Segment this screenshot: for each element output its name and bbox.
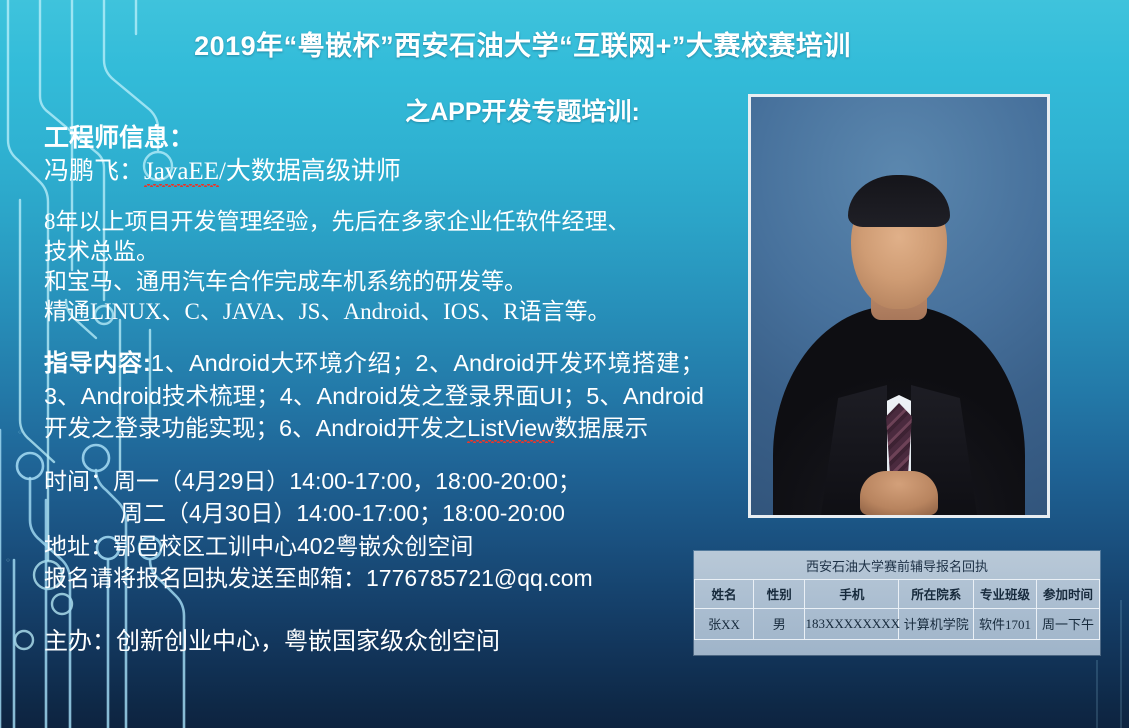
engineer-bio: 8年以上项目开发管理经验，先后在多家企业任软件经理、 技术总监。 和宝马、通用汽… [44, 207, 744, 327]
bio-line: 技术总监。 [44, 237, 744, 267]
table-header-row: 姓名 性别 手机 所在院系 专业班级 参加时间 [695, 580, 1100, 609]
sponsor-line: 主办：创新创业中心，粤嵌国家级众创空间 [44, 621, 744, 656]
bio-line: 8年以上项目开发管理经验，先后在多家企业任软件经理、 [44, 207, 744, 237]
engineer-info-heading: 工程师信息： [44, 124, 744, 155]
schedule-block: 时间：周一（4月29日）14:00-17:00，18:00-20:00； 周二（… [44, 465, 744, 596]
bio-line: 精通LINUX、C、JAVA、JS、Android、IOS、R语言等。 [44, 297, 744, 327]
schedule-time-line-2: 周二（4月30日）14:00-17:00；18:00-20:00 [44, 497, 744, 530]
photo-hair [848, 175, 950, 227]
column-header-department: 所在院系 [899, 580, 974, 609]
course-content-block: 指导内容:1、Android大环境介绍；2、Android开发环境搭建；3、An… [44, 347, 704, 445]
registration-receipt-table: 西安石油大学赛前辅导报名回执 姓名 性别 手机 所在院系 专业班级 参加时间 张… [694, 551, 1100, 655]
schedule-time-line-1: 时间：周一（4月29日）14:00-17:00，18:00-20:00； [44, 465, 744, 498]
cell-name: 张XX [695, 609, 754, 640]
instructor-photo [748, 94, 1050, 518]
engineer-title: /大数据高级讲师 [219, 158, 401, 185]
engineer-name-line: 冯鹏飞：JavaEE/大数据高级讲师 [44, 156, 744, 188]
receipt-table-title: 西安石油大学赛前辅导报名回执 [694, 551, 1100, 579]
javaee-spellcheck-term: JavaEE [144, 158, 219, 185]
column-header-phone: 手机 [805, 580, 899, 609]
column-header-class: 专业班级 [974, 580, 1037, 609]
signup-instruction: 报名请将报名回执发送至邮箱：1776785721@qq.com [44, 562, 744, 595]
cell-attend-time: 周一下午 [1036, 609, 1099, 640]
course-content-label: 指导内容: [44, 350, 151, 377]
cell-department: 计算机学院 [899, 609, 974, 640]
receipt-grid: 姓名 性别 手机 所在院系 专业班级 参加时间 张XX 男 183XXXXXXX… [694, 579, 1100, 640]
column-header-name: 姓名 [695, 580, 754, 609]
column-header-gender: 性别 [754, 580, 805, 609]
listview-spellcheck-term: ListView [467, 415, 554, 441]
schedule-address: 地址：鄂邑校区工训中心402粤嵌众创空间 [44, 530, 744, 563]
engineer-name: 冯鹏飞： [44, 158, 144, 185]
page-title: 2019年“粤嵌杯”西安石油大学“互联网+”大赛校赛培训 [0, 24, 1045, 63]
column-header-attend-time: 参加时间 [1036, 580, 1099, 609]
slide-body: 工程师信息： 冯鹏飞：JavaEE/大数据高级讲师 8年以上项目开发管理经验，先… [44, 124, 744, 656]
cell-phone: 183XXXXXXXX [805, 609, 899, 640]
photo-backdrop [751, 97, 1047, 515]
cell-gender: 男 [754, 609, 805, 640]
bio-line: 和宝马、通用汽车合作完成车机系统的研发等。 [44, 267, 744, 297]
photo-hands [860, 471, 938, 515]
presentation-slide: 2019年“粤嵌杯”西安石油大学“互联网+”大赛校赛培训 之APP开发专题培训:… [0, 0, 1129, 728]
course-content-text-end: 数据展示 [554, 415, 648, 441]
table-row: 张XX 男 183XXXXXXXX 计算机学院 软件1701 周一下午 [695, 609, 1100, 640]
cell-class: 软件1701 [974, 609, 1037, 640]
